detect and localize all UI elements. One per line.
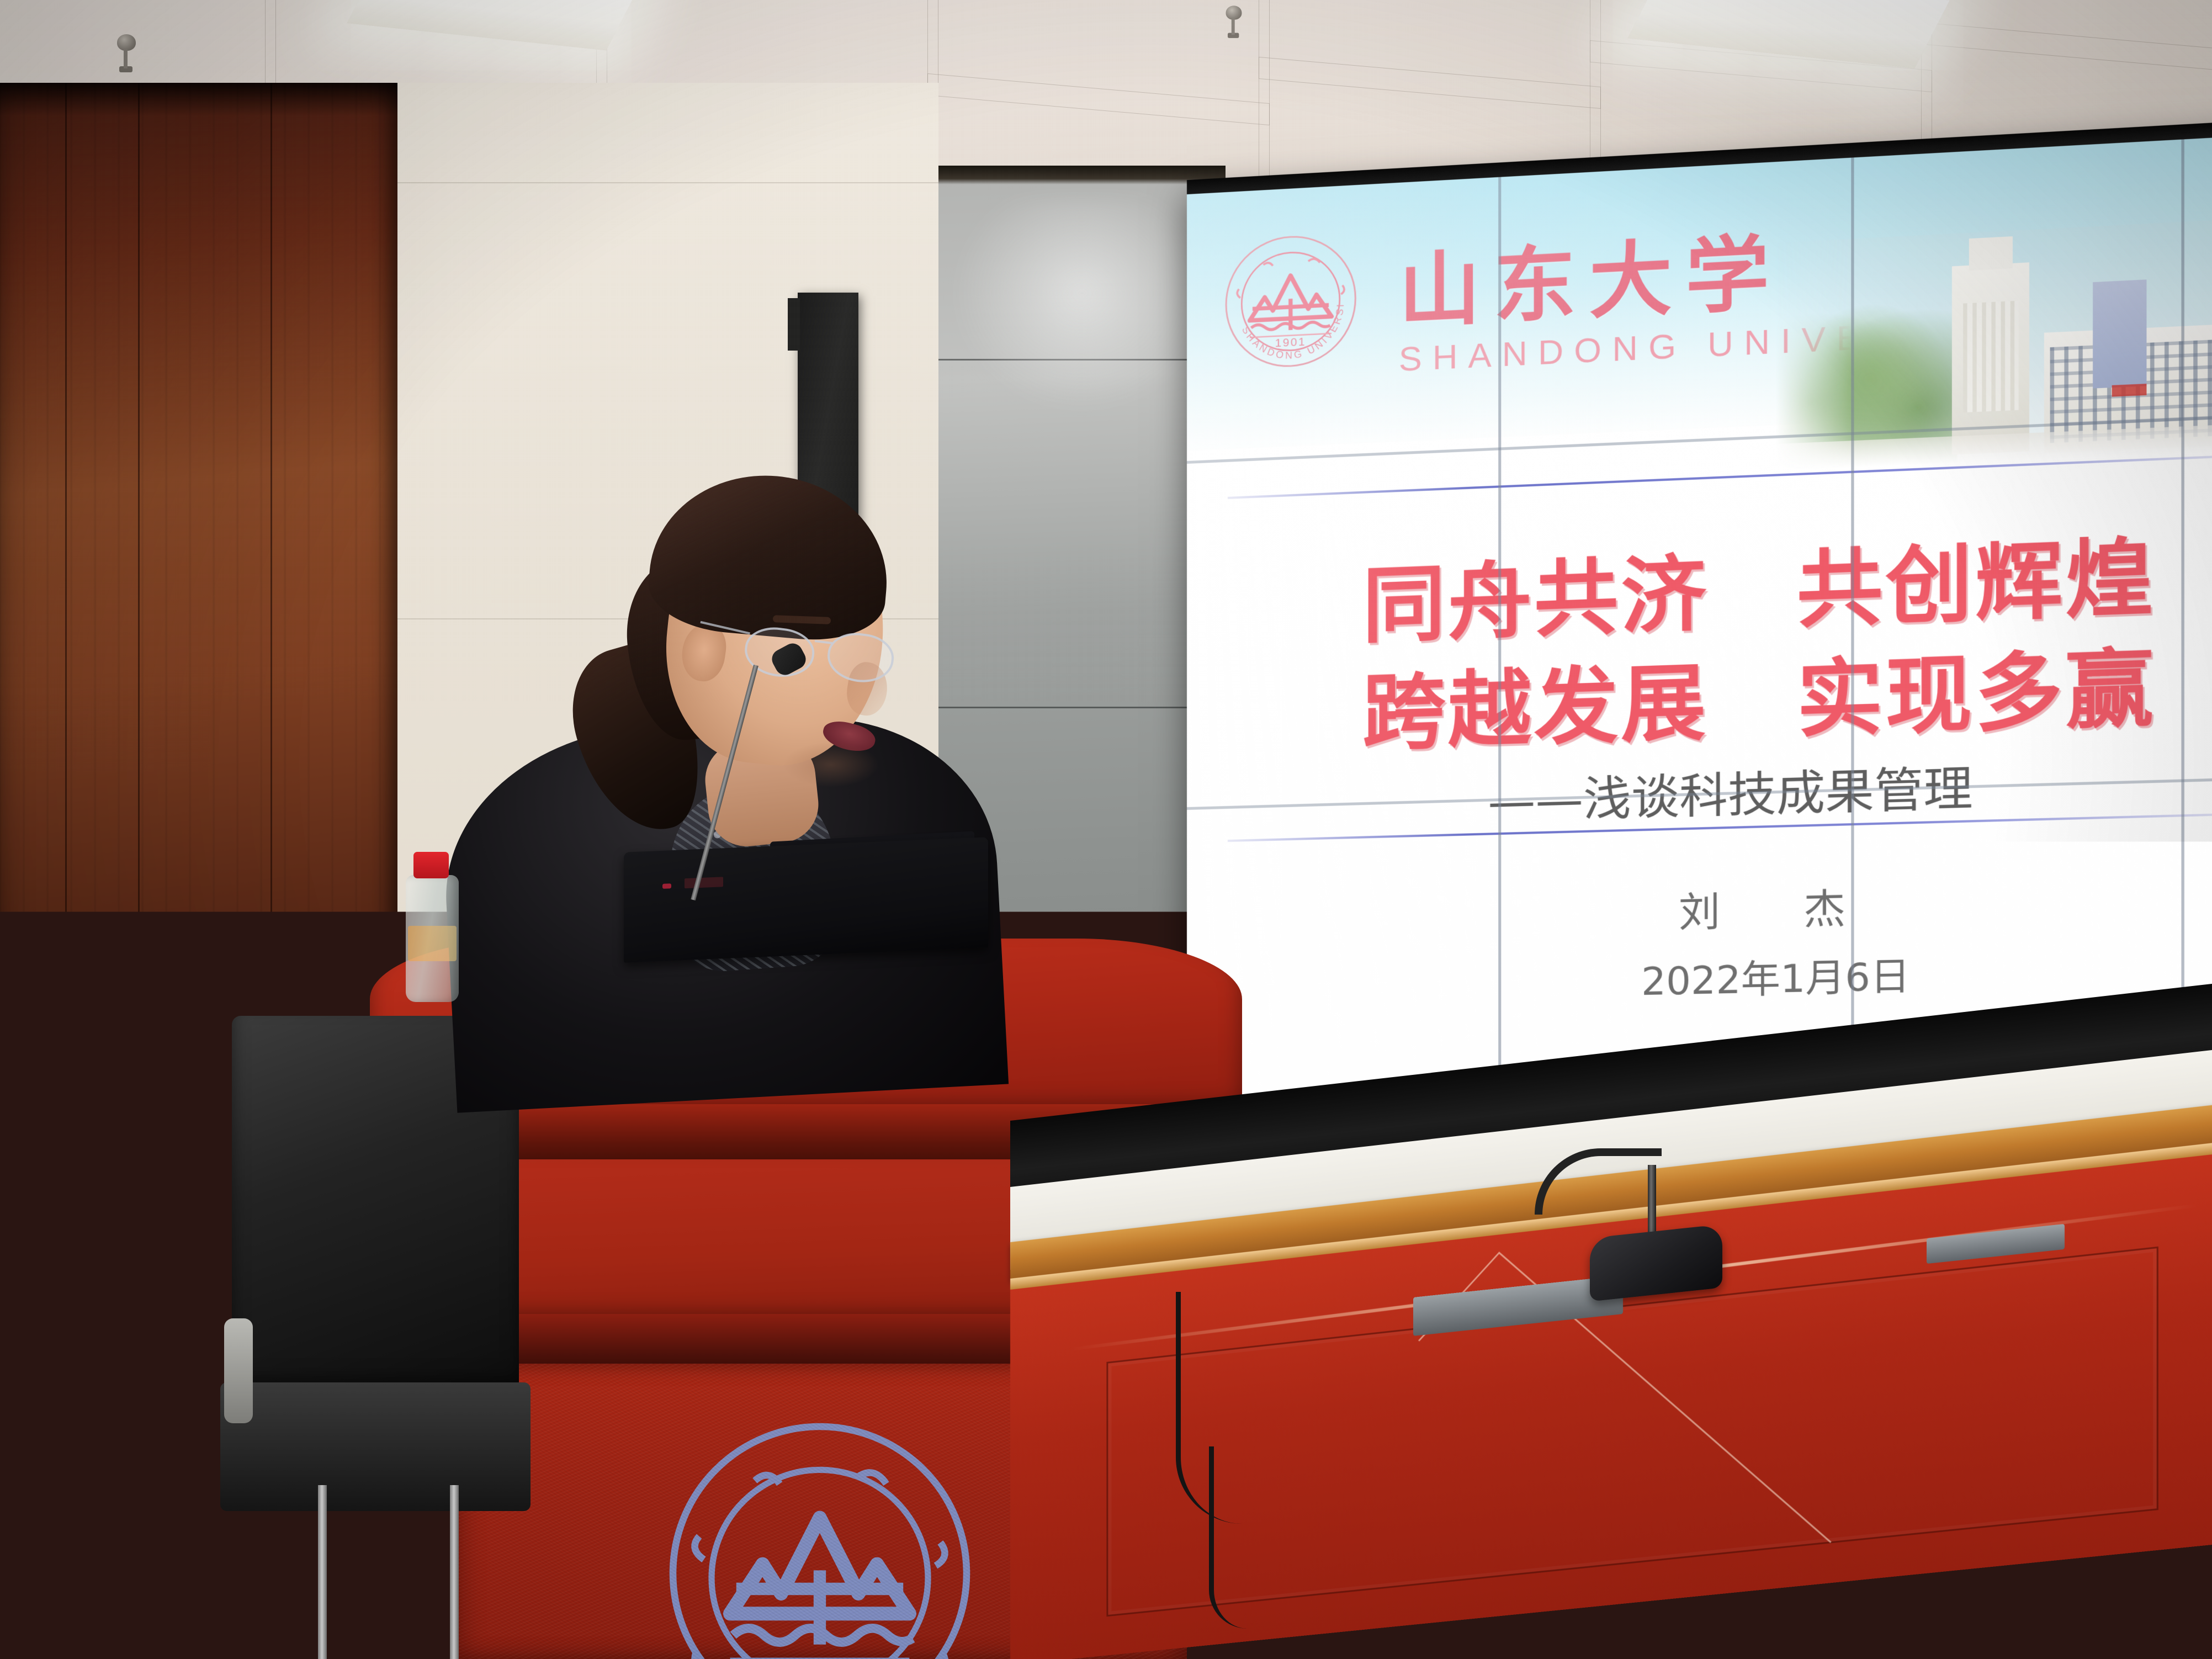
cable — [1209, 1446, 1248, 1629]
slide-rule-top — [1228, 456, 2212, 500]
water-bottle[interactable] — [406, 875, 459, 1002]
wall-reflection-glow — [955, 199, 1209, 409]
speaker-hair-top — [645, 466, 895, 646]
laptop[interactable] — [624, 837, 988, 963]
wood-wall-panel — [0, 83, 397, 1032]
slide-author: 刘 杰 — [1679, 874, 1866, 939]
seal-year: 1901 — [1275, 335, 1306, 349]
chair[interactable] — [232, 1016, 519, 1659]
slide-date: 2022年1月6日 — [1641, 945, 1910, 1006]
sprinkler-head-icon-2 — [1226, 6, 1242, 20]
wood-panel-top-shadow — [0, 83, 397, 116]
podium-seal-icon — [665, 1419, 974, 1659]
shandong-university-seal-icon: 1901 SHANDONG UNIVERSITY — [1223, 230, 1359, 373]
sprinkler-head-icon — [117, 34, 136, 51]
conference-room-photo: 1901 SHANDONG UNIVERSITY 山东大学 SHANDONG U… — [0, 0, 2212, 1659]
bottle-cap — [413, 852, 449, 878]
gray-panel-top-shadow — [938, 166, 1226, 184]
laptop-led-indicator — [662, 883, 671, 889]
campus-red-banner — [2112, 384, 2146, 397]
bottle-label — [408, 926, 457, 961]
speaker-person — [486, 464, 983, 1071]
video-wall-seam-v2 — [1851, 157, 1854, 1175]
campus-building-glass-tower — [2093, 279, 2146, 388]
laptop-logo — [685, 877, 723, 888]
video-wall-seam-v1 — [1498, 177, 1501, 1179]
slide-headline: 同舟共济 共创辉煌 跨越发展 实现多赢 — [1362, 521, 2204, 767]
